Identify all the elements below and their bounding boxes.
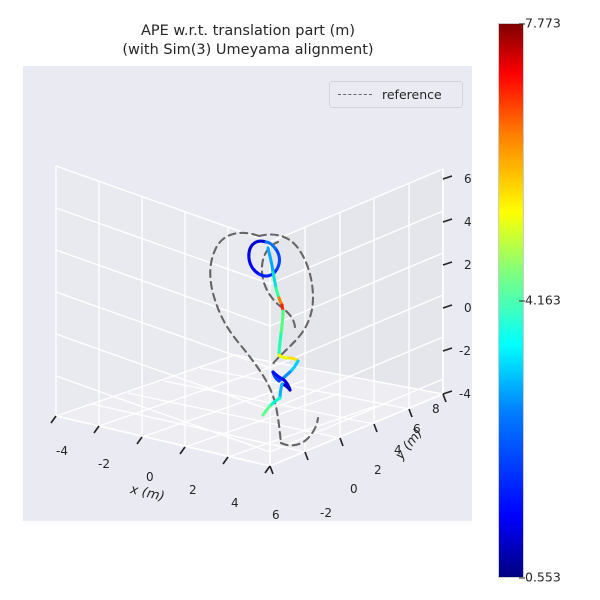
xtick-label-5: 6: [272, 508, 280, 522]
chart-title-line2: (with Sim(3) Umeyama alignment): [122, 42, 373, 58]
legend[interactable]: reference: [329, 81, 463, 108]
colorbar-tick-max: 7.773: [525, 16, 561, 31]
ytick-label-0: -2: [320, 506, 332, 520]
ztick-label-2: 0: [464, 301, 472, 315]
ytick-label-2: 2: [374, 463, 382, 477]
figure: APE w.r.t. translation part (m)(with Sim…: [0, 0, 600, 600]
xtick-label-4: 4: [231, 496, 239, 510]
colorbar[interactable]: 7.773 4.163 0.553: [498, 23, 524, 578]
xtick-label-2: 0: [146, 470, 154, 484]
ztick-label-5: 6: [464, 172, 472, 186]
colorbar-tick-min: 0.553: [525, 570, 561, 585]
zaxis-ticks: [443, 176, 452, 394]
xtick-label-0: -4: [56, 444, 68, 458]
ztick-label-4: 4: [464, 215, 472, 229]
ztick-label-3: 2: [464, 258, 472, 272]
legend-dash-icon: [338, 94, 372, 95]
colorbar-tick-mid: 4.163: [525, 293, 561, 308]
ytick-label-1: 0: [350, 482, 358, 496]
chart-title-line1: APE w.r.t. translation part (m): [141, 23, 355, 39]
chart-title: APE w.r.t. translation part (m)(with Sim…: [23, 22, 473, 60]
ztick-label-0: -4: [459, 387, 471, 401]
xtick-label-1: -2: [98, 457, 110, 471]
legend-entry-reference: reference: [382, 87, 442, 102]
ztick-label-1: -2: [459, 344, 471, 358]
xtick-label-3: 2: [189, 483, 197, 497]
ytick-label-5: 8: [432, 402, 440, 416]
